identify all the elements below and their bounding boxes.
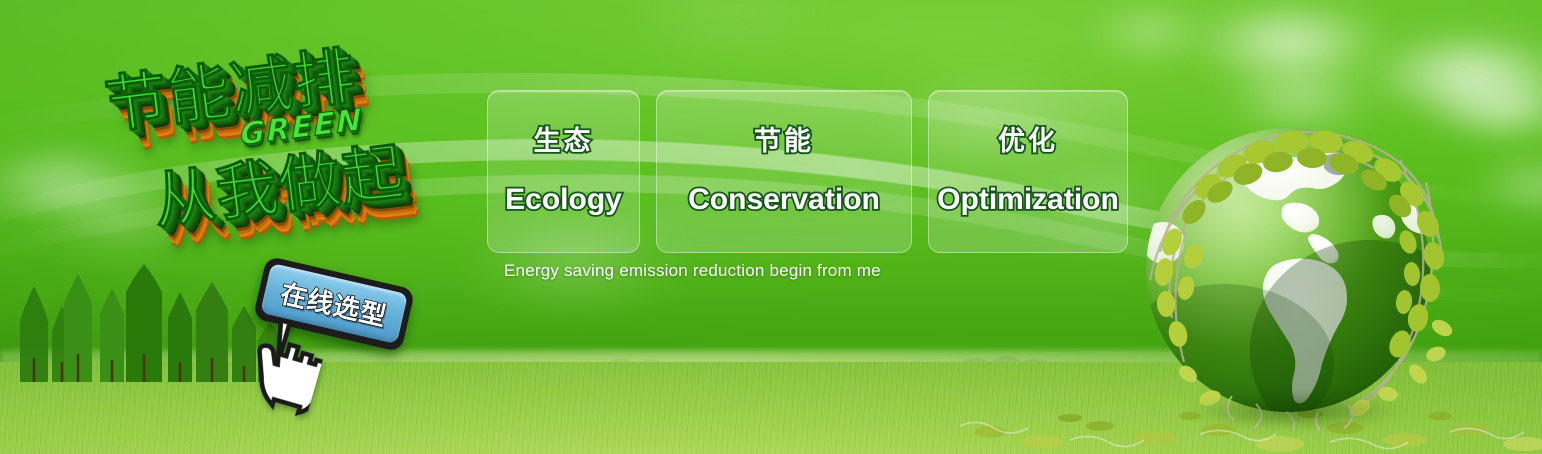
headline-3d-art: 节能减排 GREEN 从我做起 [96,34,486,264]
card-title-en: Optimization [937,185,1119,215]
card-title-cn: 生态 [534,128,594,155]
feature-card-optimization[interactable]: 优化 Optimization [928,90,1128,253]
globe-shadow [1146,388,1446,434]
card-title-cn: 优化 [998,128,1058,155]
card-title-cn: 节能 [754,128,814,155]
headline-line-2: 从我做起 [147,121,408,241]
feature-card-conservation[interactable]: 节能 Conservation [656,90,912,253]
leafy-globe-icon [1136,112,1454,430]
feature-card-ecology[interactable]: 生态 Ecology [487,90,640,253]
leafy-globe-illustration [1136,112,1454,430]
card-title-en: Ecology [505,185,622,215]
tagline-text: Energy saving emission reduction begin f… [504,261,881,281]
card-title-en: Conservation [688,185,880,215]
green-energy-banner: 节能减排 GREEN 从我做起 在线选型 生态 Ecology 节能 Conse… [0,0,1542,454]
feature-cards: 生态 Ecology 节能 Conservation 优化 Optimizati… [487,90,1128,253]
